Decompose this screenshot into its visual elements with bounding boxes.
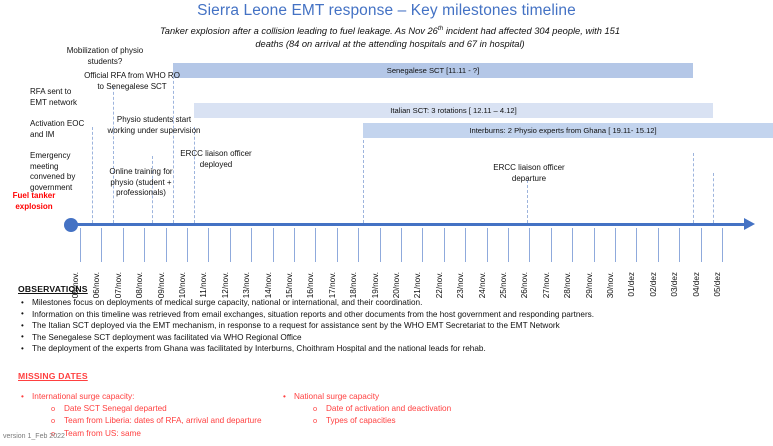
list-item: Date of activation and deactivation <box>280 403 610 415</box>
date-tick <box>594 228 595 262</box>
bar-italian-sct[interactable]: Italian SCT: 3 rotations [ 12.11 – 4.12] <box>194 103 713 118</box>
gridline-19nov <box>363 125 364 223</box>
page-subtitle: Tanker explosion after a collision leadi… <box>150 22 630 51</box>
date-tick <box>101 228 102 262</box>
date-tick <box>144 228 145 262</box>
list-item: Information on this timeline was retriev… <box>18 309 758 321</box>
bar-label-senegalese-sct: Senegalese SCT [11.11 - ?] <box>173 63 693 78</box>
list-item: Team from US: same <box>18 428 348 440</box>
date-tick <box>208 228 209 262</box>
gridline-24nov <box>527 180 528 223</box>
date-tick <box>230 228 231 262</box>
date-tick <box>508 228 509 262</box>
date-tick <box>80 228 81 262</box>
milestone-mobilization-physio: Mobilization of physio students? <box>58 46 152 67</box>
date-tick <box>294 228 295 262</box>
date-tick <box>273 228 274 262</box>
milestone-physio-students-working: Physio students start working under supe… <box>104 115 204 136</box>
date-tick <box>380 228 381 262</box>
date-tick <box>529 228 530 262</box>
milestone-rfa-emt-network: RFA sent to EMT network <box>30 87 88 108</box>
list-item: The deployment of the experts from Ghana… <box>18 343 758 355</box>
milestone-emergency-meeting: Emergency meeting convened by government <box>30 151 90 193</box>
date-tick <box>551 228 552 262</box>
date-tick <box>123 228 124 262</box>
missing-dates-column-national: National surge capacity Date of activati… <box>280 391 610 428</box>
date-tick <box>358 228 359 262</box>
date-tick <box>722 228 723 262</box>
gridline-07nov <box>113 87 114 223</box>
bar-interburns[interactable]: Interburns: 2 Physio experts from Ghana … <box>363 123 773 138</box>
date-tick <box>658 228 659 262</box>
observations-list: Milestones focus on deployments of medic… <box>18 297 758 355</box>
milestone-fuel-tanker-explosion: Fuel tanker explosion <box>2 191 66 212</box>
date-tick <box>422 228 423 262</box>
missing-dates-heading: MISSING DATES <box>18 371 758 381</box>
gridline-04dez <box>693 153 694 223</box>
date-tick <box>465 228 466 262</box>
missing-dates-section: MISSING DATES International surge capaci… <box>18 371 758 381</box>
date-axis-labels: 05/nov.06/nov.07/nov.08/nov.09/nov.10/no… <box>0 228 773 278</box>
timeline-axis <box>66 223 746 226</box>
gridline-05dez <box>713 173 714 223</box>
list-item: Milestones focus on deployments of medic… <box>18 297 758 309</box>
page-title: Sierra Leone EMT response – Key mileston… <box>0 2 773 20</box>
date-tick <box>315 228 316 262</box>
bar-label-interburns: Interburns: 2 Physio experts from Ghana … <box>363 123 763 138</box>
date-tick <box>444 228 445 262</box>
milestone-official-rfa-who: Official RFA from WHO RO to Senegalese S… <box>84 71 180 92</box>
gridline-09nov-rfa <box>173 71 174 223</box>
missing-dates-title-national: National surge capacity <box>280 391 610 403</box>
subtitle-text-1: Tanker explosion after a collision leadi… <box>160 26 438 36</box>
date-tick <box>572 228 573 262</box>
date-tick <box>679 228 680 262</box>
list-item: The Senegalese SCT deployment was facili… <box>18 332 758 344</box>
milestone-ercc-deployed: ERCC liaison officer deployed <box>178 149 254 170</box>
date-tick <box>636 228 637 262</box>
version-label: version 1_Feb 2022 <box>3 433 65 440</box>
date-tick <box>187 228 188 262</box>
bar-label-italian-sct: Italian SCT: 3 rotations [ 12.11 – 4.12] <box>194 103 713 118</box>
list-item: Types of capacities <box>280 415 610 427</box>
date-tick <box>701 228 702 262</box>
date-tick <box>337 228 338 262</box>
date-tick <box>251 228 252 262</box>
bar-senegalese-sct[interactable]: Senegalese SCT [11.11 - ?] <box>173 63 693 78</box>
date-tick <box>487 228 488 262</box>
observations-section: OBSERVATIONS Milestones focus on deploym… <box>18 284 758 355</box>
date-tick <box>615 228 616 262</box>
milestone-ercc-departure: ERCC liaison officer departure <box>488 163 570 184</box>
milestone-activation-eoc: Activation EOC and IM <box>30 119 90 140</box>
date-tick <box>166 228 167 262</box>
observations-heading: OBSERVATIONS <box>18 284 758 294</box>
list-item: The Italian SCT deployed via the EMT mec… <box>18 320 758 332</box>
slide-root: Sierra Leone EMT response – Key mileston… <box>0 0 773 446</box>
date-tick <box>401 228 402 262</box>
gridline-11nov <box>194 127 195 223</box>
gridline-06nov <box>92 127 93 223</box>
milestone-online-training: Online training for physio (student + pr… <box>102 167 180 199</box>
